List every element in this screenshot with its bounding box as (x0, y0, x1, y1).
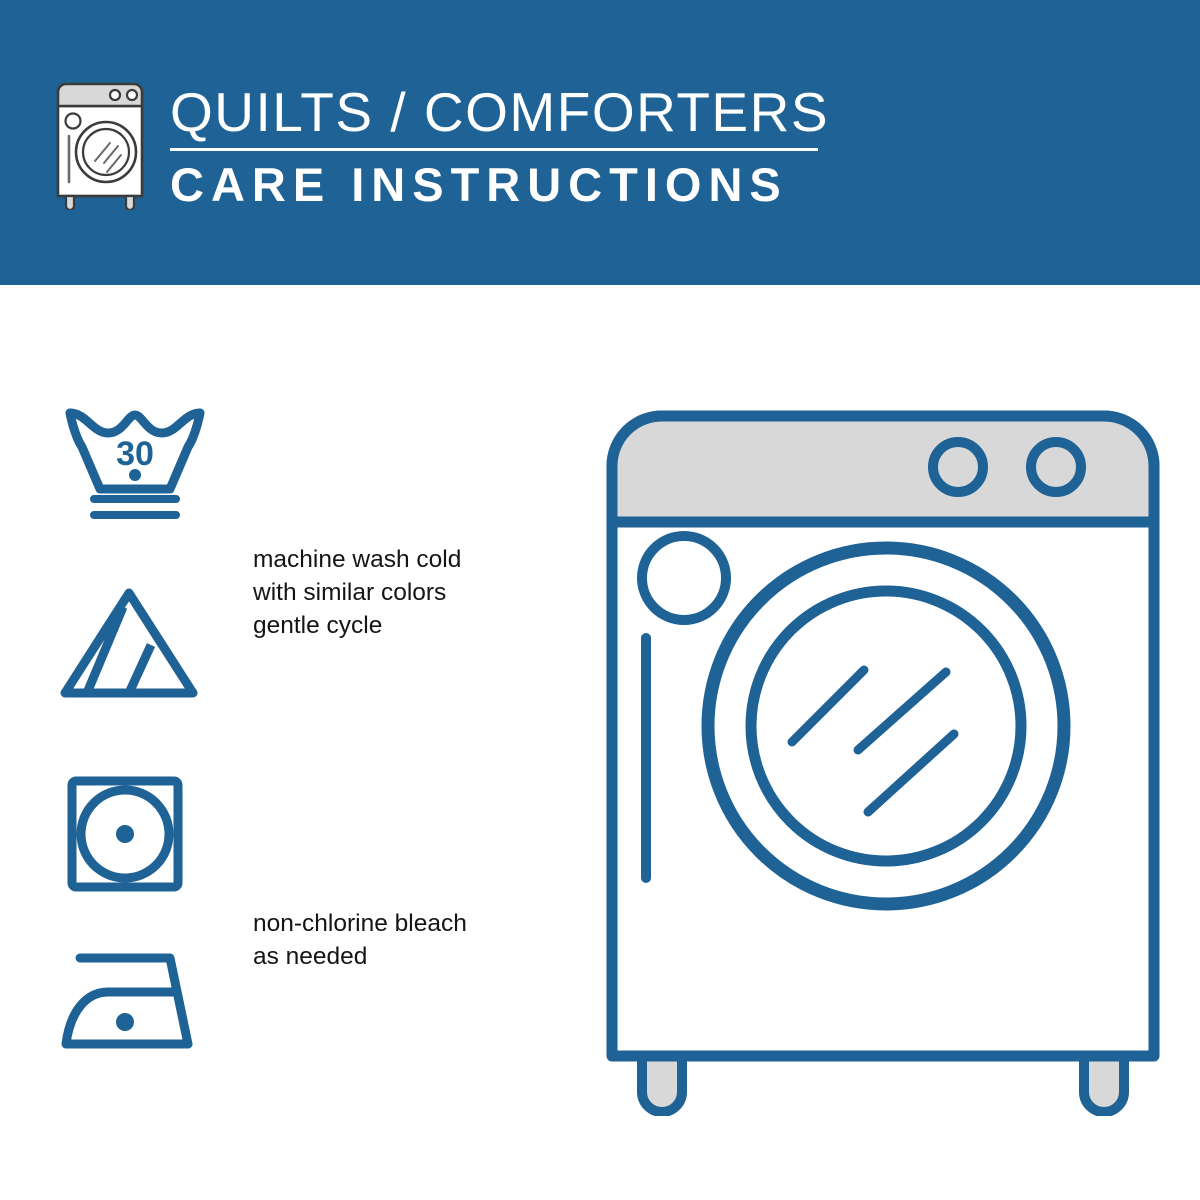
care-row-tumble-dry: tumble dry low heat (0, 775, 560, 905)
page-title: QUILTS / COMFORTERS (170, 84, 820, 140)
header-titles: QUILTS / COMFORTERS CARE INSTRUCTIONS (170, 84, 820, 209)
care-row-wash: 30 machine wash cold with similar colors… (0, 403, 560, 553)
header-band: QUILTS / COMFORTERS CARE INSTRUCTIONS (0, 0, 1200, 285)
tumble-dry-low-heat-icon (66, 775, 184, 898)
care-text-line: machine wash cold (253, 543, 461, 576)
title-divider (170, 148, 818, 151)
care-instructions-infographic: QUILTS / COMFORTERS CARE INSTRUCTIONS 30 (0, 0, 1200, 1200)
care-row-bleach: non-chlorine bleach as needed (0, 585, 560, 715)
knob-icon (1031, 442, 1081, 492)
iron-low-heat-icon (58, 950, 198, 1055)
washing-machine-icon (52, 78, 160, 210)
care-instruction-list: 30 machine wash cold with similar colors… (0, 285, 560, 1200)
care-row-iron: iron if needed low heat (0, 950, 560, 1080)
front-load-washing-machine-illustration (596, 404, 1170, 1116)
knob-icon (933, 442, 983, 492)
indicator-light-icon (642, 536, 726, 620)
care-text-line: non-chlorine bleach (253, 907, 467, 940)
machine-wash-30-gentle-icon: 30 (60, 403, 210, 526)
wash-temperature-value: 30 (116, 435, 154, 473)
page-subtitle: CARE INSTRUCTIONS (170, 160, 820, 209)
non-chlorine-bleach-triangle-icon (57, 585, 201, 705)
